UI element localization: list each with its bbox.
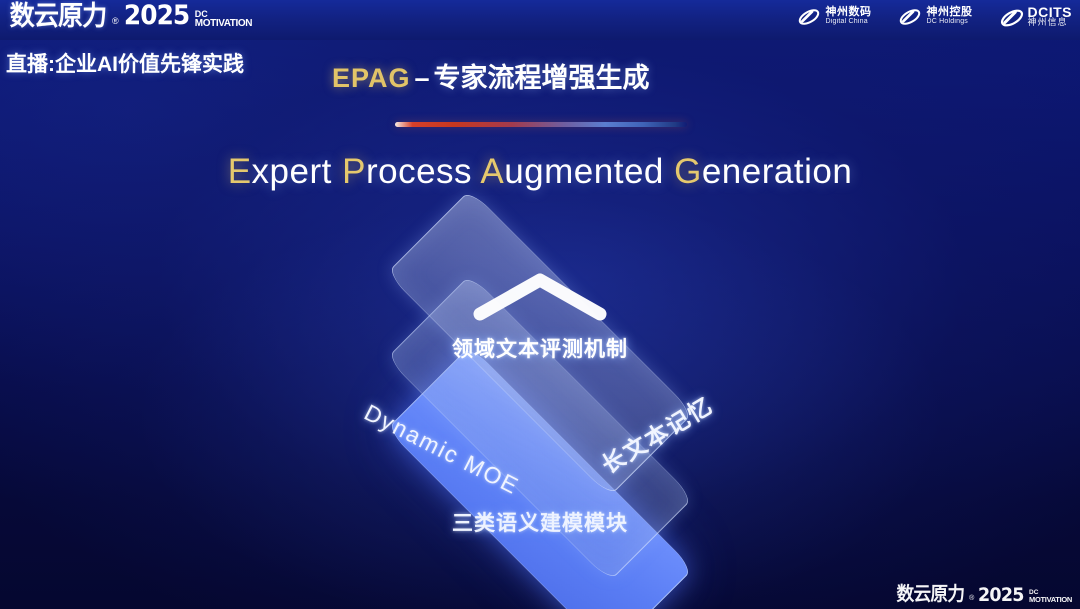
brand-logo-motivation: MOTIVATION <box>195 19 252 28</box>
title-dash: – <box>411 63 434 93</box>
swirl-icon <box>898 5 922 29</box>
expansion-word-process: rocess <box>366 152 480 191</box>
registered-mark-icon: ® <box>112 12 119 30</box>
watermark-logo: 数云原力 ® 2025 DC MOTIVATION <box>894 585 1072 605</box>
brand-label-cn: 神州控股 <box>927 7 973 17</box>
livestream-subtitle: 直播:企业AI价值先锋实践 <box>6 48 244 78</box>
expansion-word-expert: xpert <box>252 152 343 191</box>
corporate-brand-logos: 神州数码 Digital China 神州控股 DC Holdings <box>797 5 1073 29</box>
brand-label-cn: DCITS <box>1028 7 1073 17</box>
brand-digital-china: 神州数码 Digital China <box>797 5 872 29</box>
watermark-year: 2025 <box>978 585 1024 605</box>
brand-label-en: 神州信息 <box>1028 17 1073 27</box>
watermark-dc-motivation: DC MOTIVATION <box>1029 589 1072 603</box>
brand-logo-chinese: 数云原力 <box>10 2 107 30</box>
brand-label-en: Digital China <box>826 17 872 27</box>
layer-label-top: 领域文本评测机制 <box>0 333 1080 363</box>
brand-dc-holdings: 神州控股 DC Holdings <box>898 5 973 29</box>
expansion-cap-a: A <box>480 152 504 191</box>
acronym-expansion: Expert Process Augmented Generation <box>0 152 1080 192</box>
expansion-cap-g: G <box>674 152 702 191</box>
brand-dc-holdings-text: 神州控股 DC Holdings <box>927 7 973 27</box>
expansion-cap-p: P <box>342 152 366 191</box>
brand-label-cn: 神州数码 <box>826 7 872 17</box>
brand-logo-year: 2025 <box>123 2 188 30</box>
chevron-up-icon <box>470 268 610 329</box>
brand-logo-dc-motivation: DC MOTIVATION <box>195 10 252 28</box>
brand-digital-china-text: 神州数码 Digital China <box>826 7 872 27</box>
watermark-chinese: 数云原力 <box>897 585 965 605</box>
expansion-word-augmented: ugmented <box>504 152 674 191</box>
watermark-motivation: MOTIVATION <box>1029 596 1072 603</box>
swirl-icon <box>999 5 1023 29</box>
brand-label-en: DC Holdings <box>927 17 973 27</box>
brand-dcits-text: DCITS 神州信息 <box>1028 7 1073 27</box>
title-chinese: 专家流程增强生成 <box>434 63 650 93</box>
expansion-cap-e: E <box>228 152 252 191</box>
brand-logo-datayun: 数云原力 ® 2025 DC MOTIVATION <box>6 2 252 30</box>
watermark-registered-icon: ® <box>969 592 974 605</box>
brand-dcits: DCITS 神州信息 <box>999 5 1073 29</box>
swirl-icon <box>797 5 821 29</box>
slide-title: EPAG–专家流程增强生成 <box>332 56 650 95</box>
gradient-divider <box>395 122 687 127</box>
slide-canvas: 数云原力 ® 2025 DC MOTIVATION 直播:企业AI价值先锋实践 … <box>0 0 1080 609</box>
title-acronym: EPAG <box>332 63 411 93</box>
layer-label-bottom: 三类语义建模模块 <box>0 507 1080 537</box>
expansion-word-generation: eneration <box>702 152 852 191</box>
